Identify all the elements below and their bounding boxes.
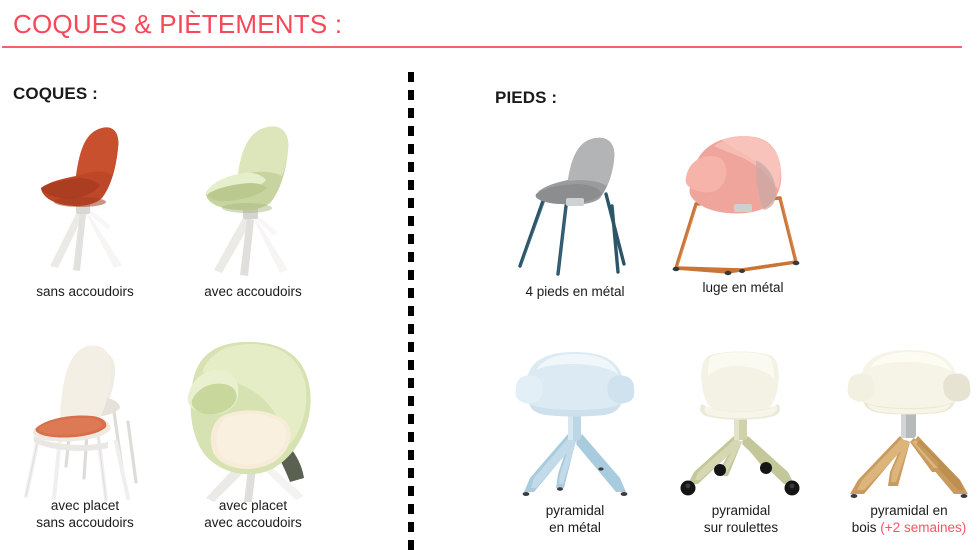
chair-svg (666, 348, 816, 500)
chair-svg (178, 118, 328, 278)
product-card-coque-avec-accoudoirs[interactable]: avec accoudoirs (178, 118, 328, 308)
caption-line-2: sans accoudoirs (36, 515, 134, 532)
chair-illustration-terracotta-side (10, 118, 160, 308)
chair-svg (10, 118, 160, 278)
product-card-pied-4-pieds-metal[interactable]: 4 pieds en métal (500, 132, 650, 307)
chair-svg (178, 338, 328, 503)
section-heading-coques: COQUES : (13, 84, 98, 104)
caption-line-2: avec accoudoirs (204, 515, 302, 532)
product-card-pied-pyramidal-roulettes[interactable]: pyramidal sur roulettes (666, 348, 816, 543)
caption-note-delay: (+2 semaines) (880, 520, 966, 535)
chair-svg (834, 348, 980, 500)
caption-line-1: pyramidal (704, 503, 778, 520)
page-title: COQUES & PIÈTEMENTS : (13, 9, 342, 40)
caption-line-1: avec accoudoirs (204, 284, 302, 301)
caption-line-2: en métal (546, 520, 605, 537)
section-heading-pieds: PIEDS : (495, 88, 557, 108)
caption-line-2: bois (852, 520, 881, 535)
title-divider-rule (2, 46, 962, 48)
chair-svg (500, 132, 650, 280)
caption-line-2: sur roulettes (704, 520, 778, 537)
caster-icon (714, 464, 726, 476)
caption-line-1: pyramidal en (852, 503, 966, 520)
vertical-dashed-divider (408, 72, 414, 550)
caption: avec accoudoirs (204, 284, 302, 301)
caption: pyramidal sur roulettes (704, 503, 778, 536)
caption-line-1: pyramidal (546, 503, 605, 520)
product-card-pied-pyramidal-metal[interactable]: pyramidal en métal (500, 348, 650, 543)
chair-illustration-green-armchair-side (178, 118, 328, 308)
caption-line-1: sans accoudoirs (36, 284, 134, 301)
chair-svg (500, 348, 650, 500)
caption: avec placet sans accoudoirs (36, 498, 134, 531)
product-card-pied-pyramidal-bois[interactable]: pyramidal en bois (+2 semaines) (834, 348, 980, 543)
chair-svg (10, 338, 160, 503)
caption: 4 pieds en métal (525, 284, 624, 301)
caption-line-1: luge en métal (702, 280, 783, 297)
chair-svg (668, 122, 818, 282)
caster-icon (760, 462, 772, 474)
caption-line-1: avec placet (36, 498, 134, 515)
caption: pyramidal en bois (+2 semaines) (852, 503, 966, 536)
caption-line-1: 4 pieds en métal (525, 284, 624, 301)
caption: sans accoudoirs (36, 284, 134, 301)
caption: avec placet avec accoudoirs (204, 498, 302, 531)
caption: pyramidal en métal (546, 503, 605, 536)
caption-line-2-wrap: bois (+2 semaines) (852, 520, 966, 537)
chair-illustration-grey-4leg (500, 132, 650, 307)
product-card-coque-placet-avec-accoudoirs[interactable]: avec placet avec accoudoirs (178, 338, 328, 538)
caption-line-1: avec placet (204, 498, 302, 515)
product-card-coque-sans-accoudoirs[interactable]: sans accoudoirs (10, 118, 160, 308)
caption: luge en métal (702, 280, 783, 297)
product-card-pied-luge-metal[interactable]: luge en métal (668, 122, 818, 307)
product-card-coque-placet-sans-accoudoirs[interactable]: avec placet sans accoudoirs (10, 338, 160, 538)
